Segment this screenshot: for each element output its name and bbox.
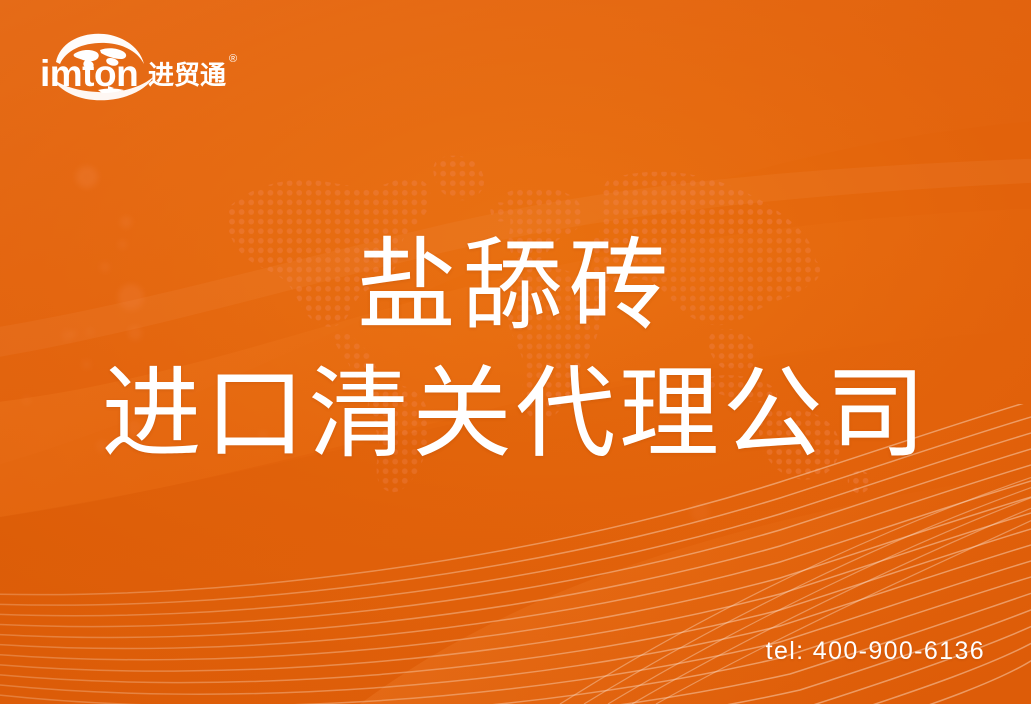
telephone-text: tel: 400-900-6136 (766, 637, 985, 666)
headline-line-1: 盐舔砖 (0, 228, 1031, 344)
promo-banner: imton 进贸通 ® 盐舔砖 进口清关代理公司 tel: 400-900-61… (0, 0, 1031, 704)
headline-line-2: 进口清关代理公司 (0, 356, 1031, 472)
headline-block: 盐舔砖 进口清关代理公司 (0, 228, 1031, 472)
brand-logo[interactable]: imton 进贸通 ® (38, 28, 243, 102)
trademark-symbol: ® (229, 53, 237, 65)
logo-wordmark: imton (40, 53, 138, 94)
logo-chinese-name: 进贸通 (148, 61, 226, 91)
